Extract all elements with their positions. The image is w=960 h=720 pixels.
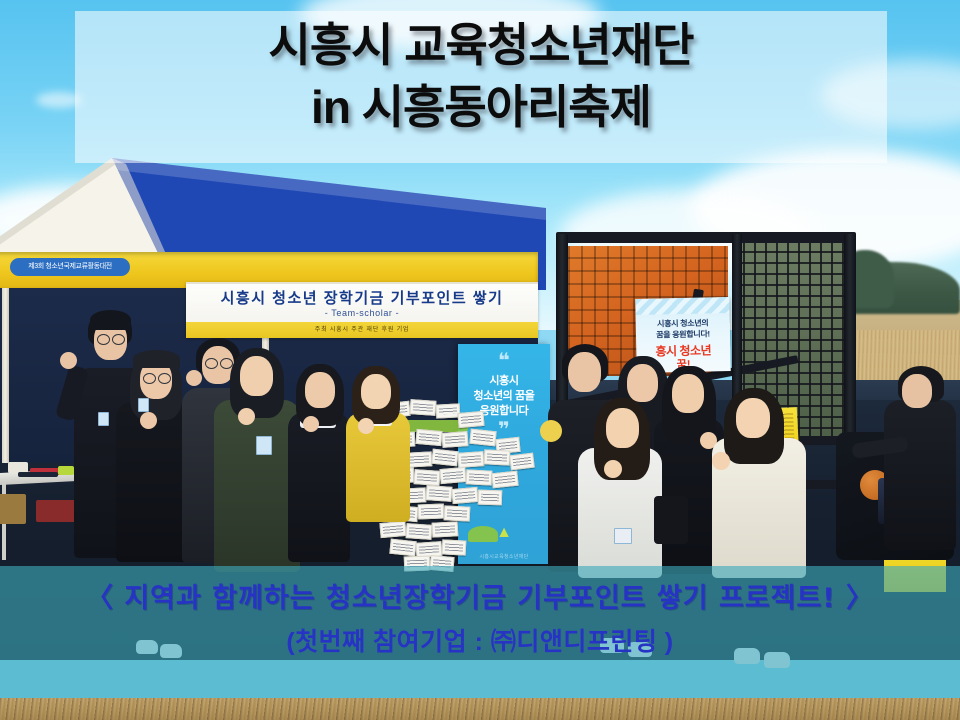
booth-banner-subtitle: - Team-scholar -	[186, 308, 538, 318]
id-badge	[138, 398, 149, 412]
frame-bar	[556, 232, 856, 243]
postit-note	[451, 487, 478, 504]
postit-note	[414, 469, 441, 486]
postit-note	[442, 431, 469, 448]
postit-note	[415, 429, 442, 446]
postit-note	[509, 453, 535, 471]
postit-note	[406, 523, 433, 540]
dry-grass-foreground	[0, 698, 960, 720]
hand-finger-heart	[604, 460, 622, 478]
face	[902, 374, 932, 408]
postit-note	[418, 504, 445, 520]
postit-note	[442, 539, 467, 555]
glasses	[97, 334, 110, 345]
postit-note	[379, 521, 406, 538]
face	[361, 374, 391, 409]
postit-note	[432, 521, 459, 537]
face	[606, 408, 639, 448]
face	[568, 352, 601, 392]
page-title: 시흥시 교육청소년재단 in 시흥동아리축제	[75, 14, 887, 138]
postit-note	[410, 399, 437, 416]
postit-green	[468, 526, 498, 542]
postit-note	[466, 469, 493, 485]
yellow-coat	[346, 412, 410, 522]
face	[627, 364, 658, 402]
valance-badge-label: 제3회 청소년국제교류활동대전	[10, 258, 130, 276]
booth-banner: 시흥시 청소년 장학기금 기부포인트 쌓기 - Team-scholar - 주…	[186, 282, 538, 338]
glasses	[158, 373, 171, 384]
hand-finger-heart	[186, 370, 202, 386]
hand-finger-heart	[238, 408, 255, 425]
hair-fringe	[90, 310, 131, 330]
id-badge	[98, 412, 109, 426]
id-badge	[256, 436, 272, 455]
postit-note	[478, 490, 503, 506]
postit-note	[469, 429, 496, 447]
coat	[884, 400, 956, 550]
face	[240, 356, 273, 396]
postit-note	[484, 449, 511, 465]
tent-leg	[2, 288, 9, 463]
face	[305, 372, 335, 408]
postit-note	[458, 451, 485, 468]
table-item	[18, 472, 58, 477]
hand-finger-heart	[712, 452, 730, 470]
hand-finger-heart	[358, 418, 374, 434]
postit-note	[444, 505, 471, 521]
glasses	[112, 334, 125, 345]
quote-open-icon: ❝	[458, 356, 550, 366]
postit-note	[426, 485, 453, 502]
hand-finger-heart	[60, 352, 77, 369]
face	[736, 398, 770, 438]
table-item	[58, 466, 74, 475]
caption-line-1: 〈 지역과 함께하는 청소년장학기금 기부포인트 쌓기 프로젝트! 〉	[0, 576, 960, 615]
booth-banner-sponsors: 주최 시흥시 주관 재단 후원 기업	[186, 322, 538, 338]
title-line-2: in 시흥동아리축제	[75, 76, 887, 138]
caption-line-2: (첫번째 참여기업 : ㈜디앤디프린팅 )	[0, 622, 960, 658]
postit-note	[457, 411, 484, 428]
hair-fringe	[133, 350, 180, 368]
sign-line-1: 시흥시 청소년의	[657, 318, 709, 328]
title-line-1: 시흥시 교육청소년재단	[269, 19, 694, 71]
sign-text-primary: 시흥시 청소년의 꿈을 응원합니다!	[636, 317, 730, 341]
postit-note	[491, 471, 518, 489]
held-object	[540, 420, 562, 442]
postit-note	[436, 403, 461, 418]
under-table-box	[0, 494, 26, 524]
hand-finger-heart	[140, 412, 157, 429]
sponsor-text: 주최 시흥시 주관 재단 후원 기업	[315, 327, 410, 333]
booth-banner-title: 시흥시 청소년 장학기금 기부포인트 쌓기	[186, 287, 538, 308]
handbag	[654, 496, 688, 544]
poster-canvas: 시흥시 청소년의 꿈을 응원합니다! 흥시 청소년 꿈! 제3회 청소년국제교류…	[0, 0, 960, 720]
sign-zigzag-decor	[635, 297, 729, 315]
postit-note	[439, 467, 466, 484]
glasses	[205, 358, 218, 369]
glasses	[143, 373, 156, 384]
hand-finger-heart	[303, 416, 319, 432]
postit-note	[431, 449, 458, 467]
postit-note	[389, 539, 416, 557]
rollup-line-1: 시흥시	[489, 375, 518, 387]
id-badge	[614, 528, 632, 544]
face	[672, 374, 704, 413]
coat	[288, 412, 350, 562]
sign-line-2: 꿈을 응원합니다!	[656, 329, 710, 339]
